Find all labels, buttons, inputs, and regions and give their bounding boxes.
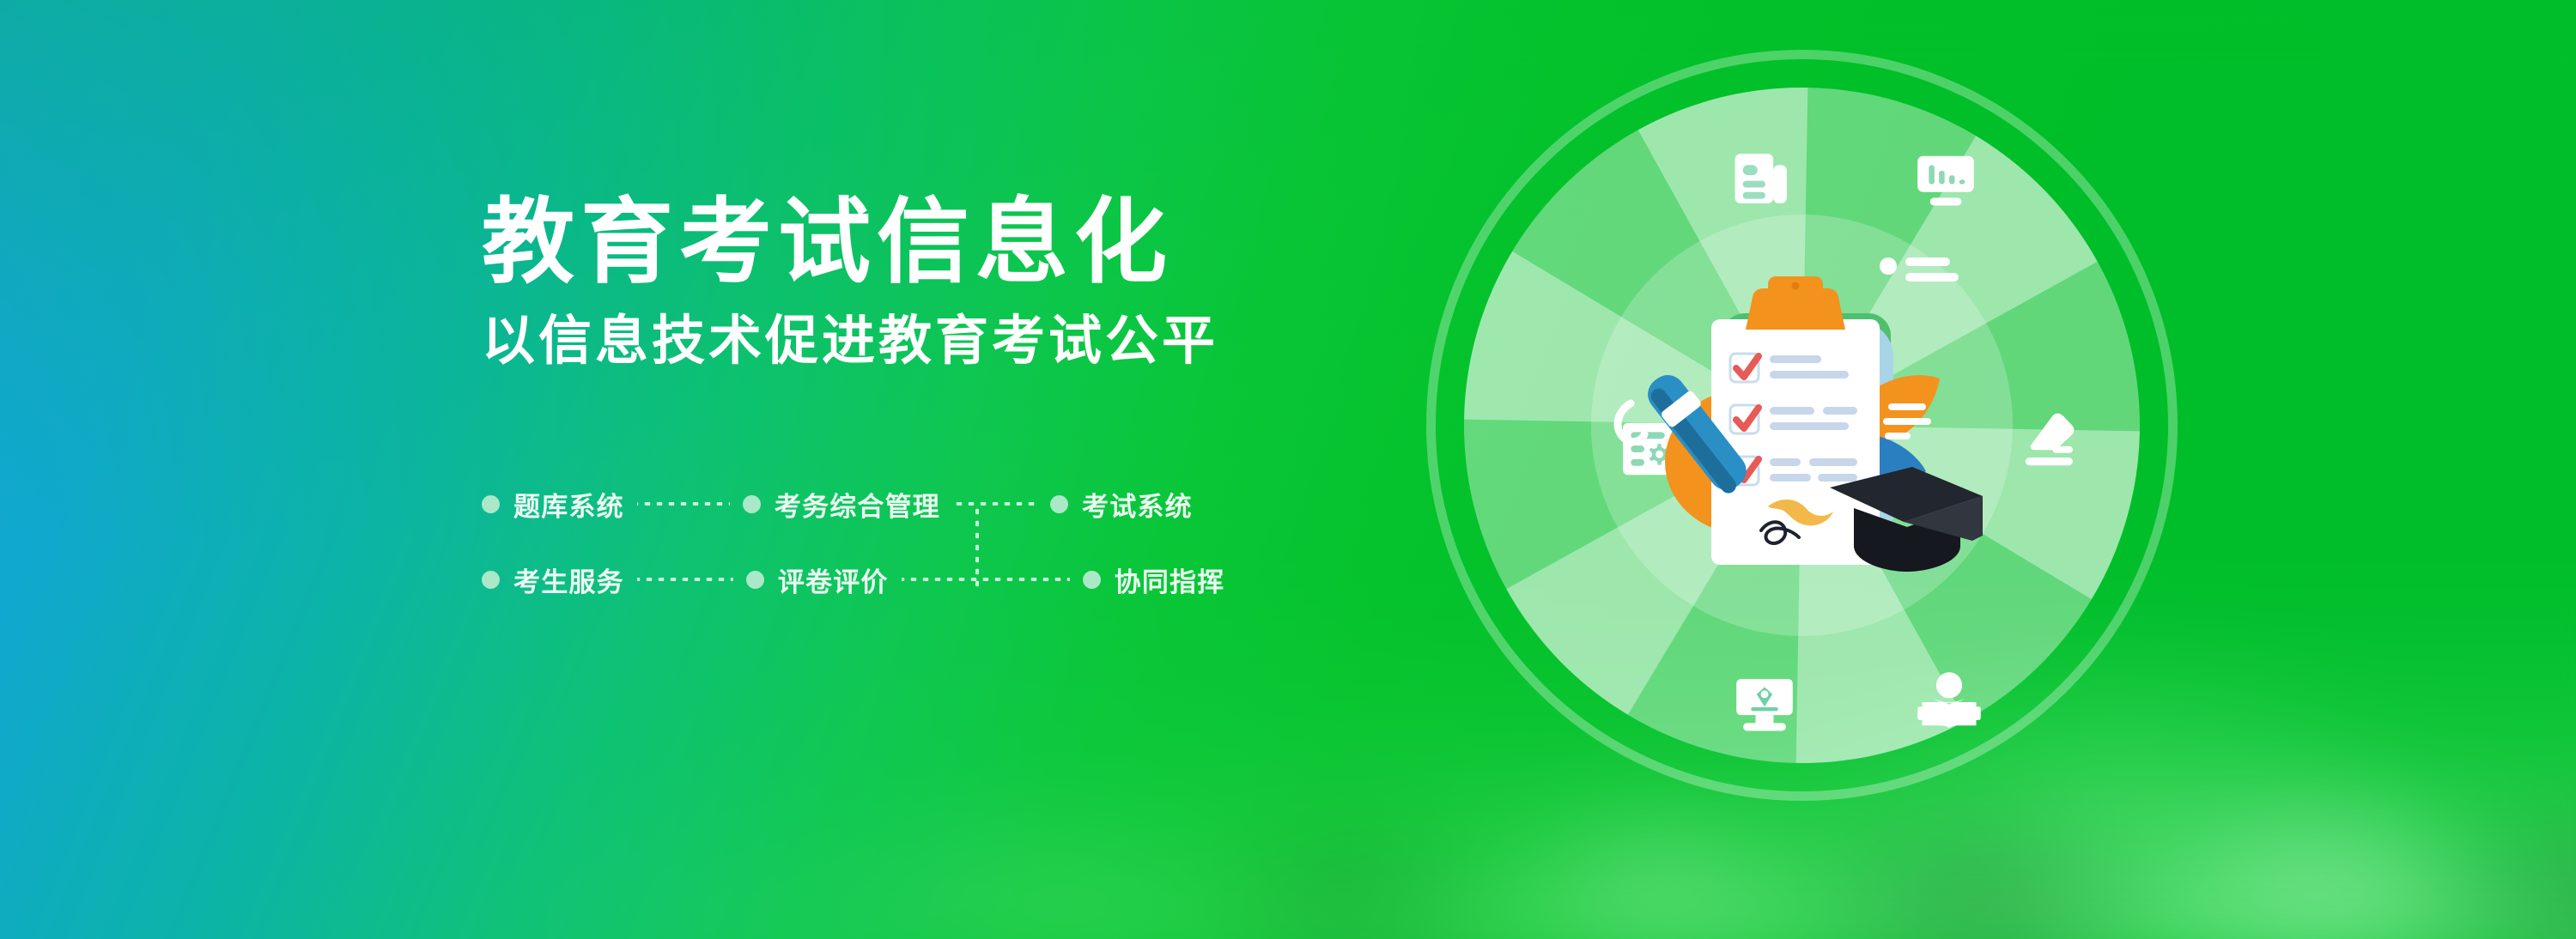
monitor-pen-icon [1728,668,1801,740]
bar-chart-monitor-icon [1910,142,1982,215]
hero-banner: 教育考试信息化 以信息技术促进教育考试公平 题库系统 考务综合管理 考试系统 考… [0,0,2576,939]
bullet-dot-icon [743,495,761,513]
top-green-tint-overlay [0,0,2576,939]
vertical-dotted-connector [975,508,979,587]
book-reader-icon [1913,666,1985,738]
dotted-connector [637,578,733,581]
circular-infographic [1426,50,2178,801]
page-title: 教育考试信息化 [482,193,1340,290]
bullet-dot-icon [482,571,500,589]
feature-item-label[interactable]: 考试系统 [1082,485,1193,524]
feature-item-label[interactable]: 考务综合管理 [775,485,940,524]
feature-row: 题库系统 考务综合管理 考试系统 [482,484,1255,524]
bullet-dot-icon [746,571,764,589]
eraser-icon [2015,403,2087,476]
feature-list: 题库系统 考务综合管理 考试系统 考生服务 评卷评价 协同指挥 [482,484,1255,599]
feature-item-label[interactable]: 评卷评价 [778,560,889,599]
page-subtitle: 以信息技术促进教育考试公平 [482,312,1340,371]
dotted-connector [637,502,730,506]
bullet-dot-icon [1083,571,1101,589]
feature-item-label[interactable]: 考生服务 [513,560,624,599]
center-illustration [1600,223,2005,628]
hero-copy: 教育考试信息化 以信息技术促进教育考试公平 [482,193,1340,372]
dotted-connector [953,502,1037,506]
bullet-dot-icon [1050,495,1068,513]
document-icon [1726,142,1798,215]
feature-item-label[interactable]: 题库系统 [513,485,624,524]
bullet-dot-icon [482,495,500,513]
feature-row: 考生服务 评卷评价 协同指挥 [482,560,1255,599]
feature-item-label[interactable]: 协同指挥 [1115,560,1225,599]
dotted-connector [902,578,1070,581]
